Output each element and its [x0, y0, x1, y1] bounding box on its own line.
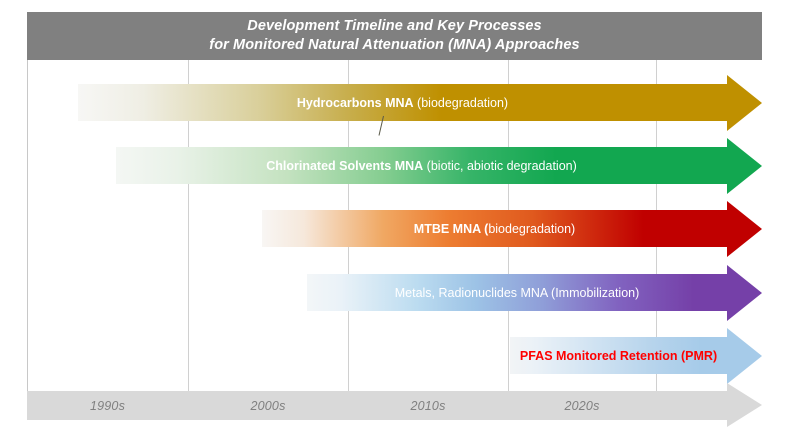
bar-shaft-hydrocarbons: Hydrocarbons MNA (biodegradation): [78, 84, 727, 121]
bar-label-mtbe: MTBE MNA (biodegradation): [262, 222, 727, 236]
bar-label-chlorinated-solvents-bold: Chlorinated Solvents MNA: [266, 159, 423, 173]
bar-label-hydrocarbons: Hydrocarbons MNA (biodegradation): [78, 96, 727, 110]
bar-label-chlorinated-solvents: Chlorinated Solvents MNA (biotic, abioti…: [116, 159, 727, 173]
bar-label-pfas-bold: PFAS Monitored Retention (PMR): [520, 349, 717, 363]
bar-arrowhead-mtbe: [727, 201, 762, 257]
axis-label-2020s: 2020s: [508, 391, 656, 420]
bar-label-pfas: PFAS Monitored Retention (PMR): [510, 349, 727, 363]
timeline-diagram: Development Timeline and Key Processes f…: [0, 0, 800, 432]
bar-shaft-mtbe: MTBE MNA (biodegradation): [262, 210, 727, 247]
timeline-bar-hydrocarbons[interactable]: Hydrocarbons MNA (biodegradation): [78, 84, 762, 121]
bar-label-hydrocarbons-bold: Hydrocarbons MNA: [297, 96, 414, 110]
bar-arrowhead-metals-radionuclides: [727, 265, 762, 321]
time-axis-arrowhead: [727, 383, 762, 427]
chart-title-line-1: Development Timeline and Key Processes: [247, 17, 541, 36]
axis-label-2000s: 2000s: [188, 391, 348, 420]
bar-shaft-metals-radionuclides: Metals, Radionuclides MNA (Immobilizatio…: [307, 274, 727, 311]
bar-label-metals-radionuclides-regular: Metals, Radionuclides MNA (Immobilizatio…: [395, 286, 640, 300]
timeline-bar-mtbe[interactable]: MTBE MNA (biodegradation): [262, 210, 762, 247]
axis-left-frame: [27, 60, 28, 408]
bar-arrowhead-chlorinated-solvents: [727, 138, 762, 194]
timeline-bar-chlorinated-solvents[interactable]: Chlorinated Solvents MNA (biotic, abioti…: [116, 147, 762, 184]
bar-label-mtbe-regular: biodegradation): [488, 222, 575, 236]
bar-arrowhead-hydrocarbons: [727, 75, 762, 131]
timeline-bar-metals-radionuclides[interactable]: Metals, Radionuclides MNA (Immobilizatio…: [307, 274, 762, 311]
bar-arrowhead-pfas: [727, 328, 762, 384]
chart-title-line-2: for Monitored Natural Attenuation (MNA) …: [209, 36, 579, 55]
bar-label-mtbe-bold: MTBE MNA (: [414, 222, 489, 236]
bar-label-hydrocarbons-regular: (biodegradation): [414, 96, 509, 110]
bar-label-metals-radionuclides: Metals, Radionuclides MNA (Immobilizatio…: [307, 286, 727, 300]
timeline-bar-pfas[interactable]: PFAS Monitored Retention (PMR): [510, 337, 762, 374]
axis-label-2010s: 2010s: [348, 391, 508, 420]
axis-label-1990s: 1990s: [27, 391, 188, 420]
chart-title-band: Development Timeline and Key Processes f…: [27, 12, 762, 60]
bar-shaft-pfas: PFAS Monitored Retention (PMR): [510, 337, 727, 374]
bar-shaft-chlorinated-solvents: Chlorinated Solvents MNA (biotic, abioti…: [116, 147, 727, 184]
bar-label-chlorinated-solvents-regular: (biotic, abiotic degradation): [423, 159, 577, 173]
